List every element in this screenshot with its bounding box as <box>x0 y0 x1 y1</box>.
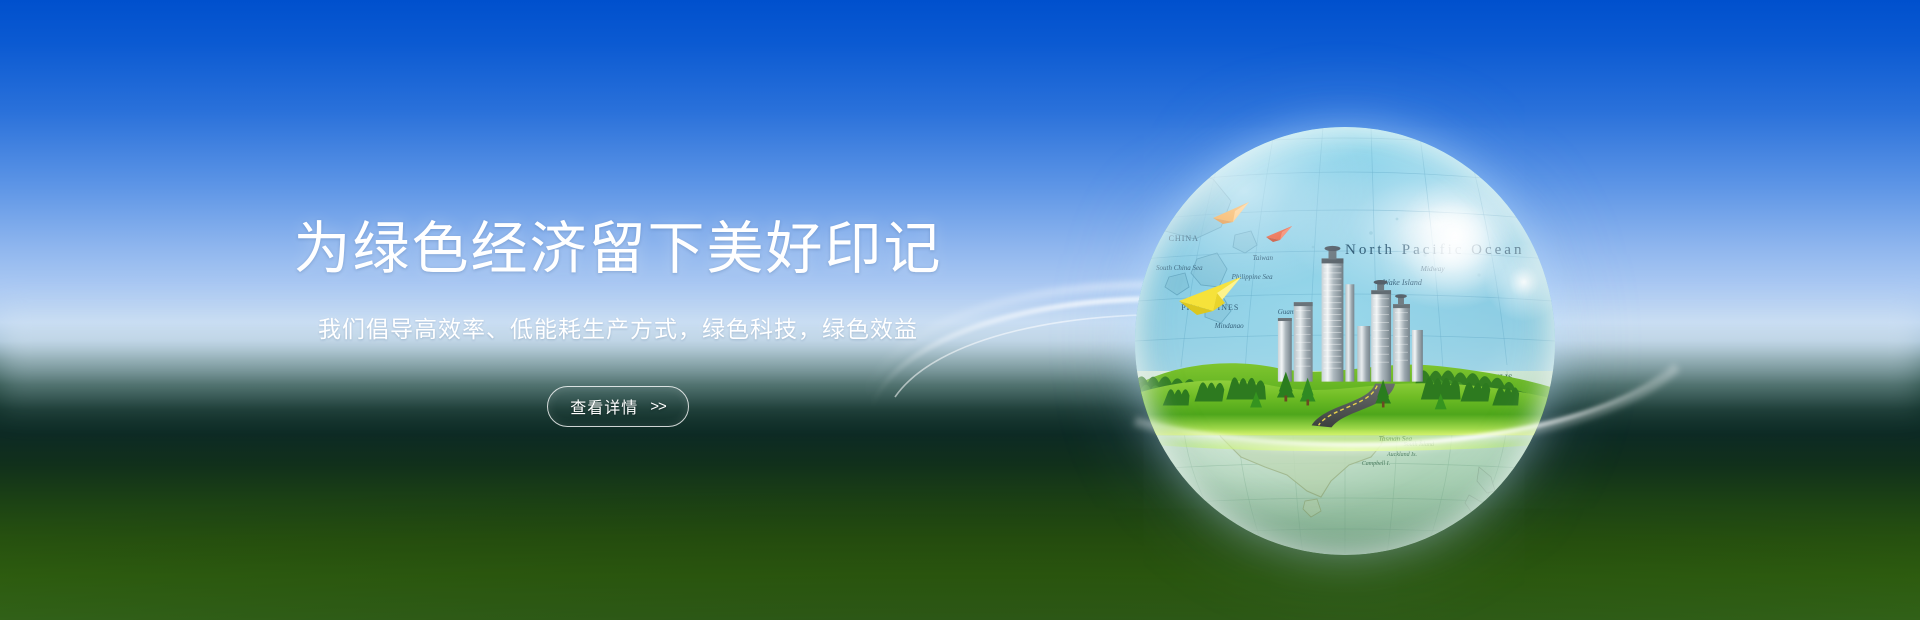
glass-globe: AUSTRALIA OCEANIA NEW ZEALAND PAPUA NEW … <box>1135 127 1555 555</box>
hero-banner: AUSTRALIA OCEANIA NEW ZEALAND PAPUA NEW … <box>0 0 1920 620</box>
page-title: 为绿色经济留下美好印记 <box>268 215 968 283</box>
chevron-right-double-icon: >> <box>650 398 666 415</box>
cta-container: 查看详情 >> <box>268 386 968 427</box>
view-details-button[interactable]: 查看详情 >> <box>547 386 689 427</box>
green-island-scene <box>1135 324 1555 435</box>
cta-label: 查看详情 <box>570 394 638 418</box>
page-subtitle: 我们倡导高效率、低能耗生产方式，绿色科技，绿色效益 <box>268 313 968 345</box>
globe-illustration: AUSTRALIA OCEANIA NEW ZEALAND PAPUA NEW … <box>1135 127 1555 555</box>
hero-copy: 为绿色经济留下美好印记 我们倡导高效率、低能耗生产方式，绿色科技，绿色效益 查看… <box>268 215 968 427</box>
